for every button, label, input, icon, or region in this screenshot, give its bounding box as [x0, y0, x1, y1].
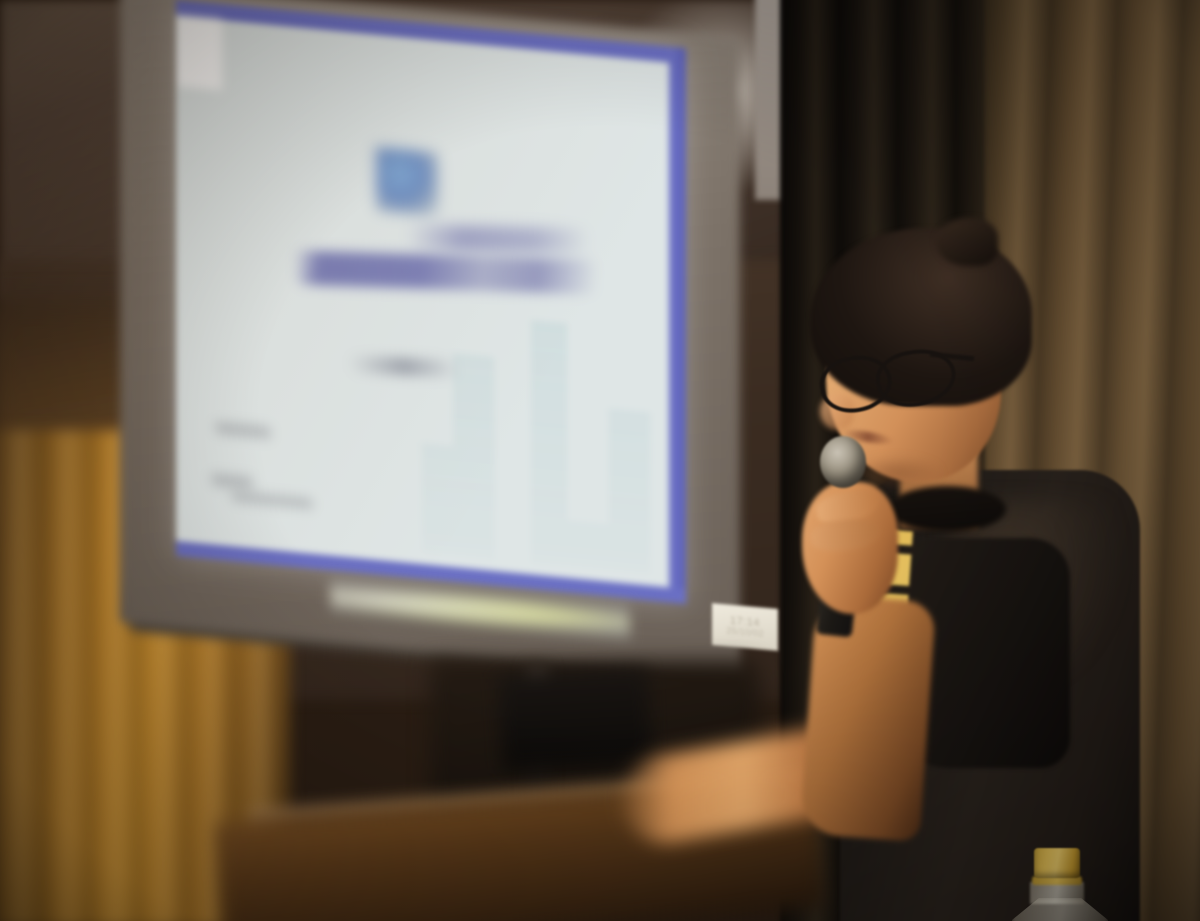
slide-bar-chart: [406, 262, 666, 577]
slide-note-line-3: [232, 491, 312, 509]
slide-title-line-1: [295, 250, 597, 294]
hair-tuft: [936, 218, 998, 266]
slide-note-line-2: [212, 473, 252, 489]
slide-title-line-2: [407, 224, 588, 255]
water-bottle: [1020, 848, 1130, 921]
photo-scene: 17:14 25/10/02: [0, 0, 1200, 921]
laptop: [498, 668, 653, 772]
slide-border-right: [669, 46, 686, 604]
slide-note-line-1: [216, 422, 270, 439]
slide-logo-icon: [376, 147, 438, 217]
speaker: [760, 200, 1160, 921]
bottle-cap: [1034, 848, 1080, 878]
projected-slide: [176, 0, 686, 604]
eyeglasses: [818, 350, 954, 408]
shirt-collar: [888, 486, 1006, 532]
slide-white-strip: [176, 16, 222, 90]
clock-date: 25/10/02: [726, 626, 763, 639]
slide-subtitle: [348, 355, 461, 378]
bottle-neck: [1030, 882, 1084, 904]
microphone-head: [820, 436, 866, 488]
